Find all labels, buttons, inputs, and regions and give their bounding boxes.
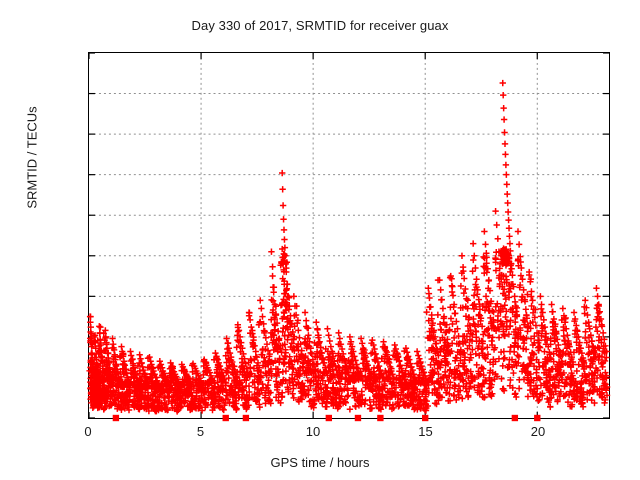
- data-point-marker: [109, 335, 115, 341]
- data-point-marker: [295, 327, 301, 333]
- x-tick-label: 20: [508, 424, 568, 439]
- data-point-marker: [459, 395, 465, 401]
- data-point-marker: [486, 277, 492, 283]
- data-point-marker: [324, 326, 330, 332]
- data-point-marker: [438, 326, 444, 332]
- data-point-marker: [511, 349, 517, 355]
- data-point-marker: [504, 191, 510, 197]
- scatter-series-srmtid: [89, 53, 609, 418]
- data-point-marker: [560, 305, 566, 311]
- data-point-marker: [248, 324, 254, 330]
- data-point-marker: [500, 92, 506, 98]
- data-point-marker: [505, 209, 511, 215]
- data-point-marker: [505, 200, 511, 206]
- data-point-marker: [501, 356, 507, 362]
- data-point-marker: [459, 253, 465, 259]
- data-point-marker: [313, 319, 319, 325]
- data-point-marker: [269, 273, 275, 279]
- data-point-marker: [336, 330, 342, 336]
- data-point-marker: [500, 105, 506, 111]
- data-point-marker: [257, 297, 263, 303]
- data-point-marker: [516, 241, 522, 247]
- data-point-marker: [426, 295, 432, 301]
- data-point-marker: [483, 293, 489, 299]
- data-point-marker: [314, 361, 320, 367]
- data-point-marker: [571, 309, 577, 315]
- data-point-marker: [512, 390, 518, 396]
- data-point-marker: [507, 377, 513, 383]
- data-point-marker: [458, 283, 464, 289]
- data-point-marker: [271, 289, 277, 295]
- data-point-marker: [97, 324, 103, 330]
- data-point-marker: [233, 344, 239, 350]
- data-point-marker: [471, 292, 477, 298]
- data-point-marker: [502, 151, 508, 157]
- plot-area: [88, 52, 610, 419]
- data-point-marker: [279, 170, 285, 176]
- zero-value-marker: [512, 415, 518, 421]
- data-point-marker: [503, 162, 509, 168]
- data-point-marker: [314, 327, 320, 333]
- data-point-marker: [325, 332, 331, 338]
- data-point-marker: [281, 227, 287, 233]
- data-point-marker: [536, 343, 542, 349]
- data-point-marker: [358, 335, 364, 341]
- data-point-marker: [516, 354, 522, 360]
- data-point-marker: [594, 328, 600, 334]
- data-point-marker: [302, 309, 308, 315]
- zero-value-marker: [223, 415, 229, 421]
- data-point-marker: [440, 305, 446, 311]
- data-point-marker: [397, 362, 403, 368]
- data-point-marker: [503, 171, 509, 177]
- data-point-marker: [493, 256, 499, 262]
- data-point-marker: [507, 344, 513, 350]
- data-point-marker: [507, 240, 513, 246]
- data-point-marker: [462, 286, 468, 292]
- x-tick-label: 15: [396, 424, 456, 439]
- data-point-marker: [437, 287, 443, 293]
- zero-value-marker: [326, 415, 332, 421]
- data-point-marker: [369, 337, 375, 343]
- data-point-marker: [507, 323, 513, 329]
- x-tick-label: 0: [58, 424, 118, 439]
- data-point-marker: [268, 249, 274, 255]
- data-point-marker: [450, 292, 456, 298]
- y-axis-label: SRMTID / TECUs: [25, 78, 40, 238]
- zero-value-marker: [243, 415, 249, 421]
- data-point-marker: [129, 356, 135, 362]
- data-point-marker: [247, 317, 253, 323]
- data-point-marker: [511, 293, 517, 299]
- data-point-marker: [501, 129, 507, 135]
- data-point-marker: [494, 222, 500, 228]
- data-point-marker: [501, 116, 507, 122]
- data-point-marker: [443, 389, 449, 395]
- data-point-marker: [495, 236, 501, 242]
- data-point-marker: [284, 281, 290, 287]
- data-point-marker: [87, 313, 93, 319]
- zero-value-marker: [113, 415, 119, 421]
- chart-canvas: Day 330 of 2017, SRMTID for receiver gua…: [0, 0, 640, 480]
- data-point-marker: [258, 305, 264, 311]
- data-point-marker: [600, 330, 606, 336]
- data-point-marker: [392, 342, 398, 348]
- data-point-marker: [279, 186, 285, 192]
- data-point-marker: [449, 283, 455, 289]
- data-point-marker: [582, 297, 588, 303]
- data-point-marker: [286, 354, 292, 360]
- data-point-marker: [408, 364, 414, 370]
- data-point-marker: [550, 309, 556, 315]
- data-point-marker: [516, 385, 522, 391]
- data-point-marker: [425, 285, 431, 291]
- data-point-marker: [529, 297, 535, 303]
- data-point-marker: [280, 202, 286, 208]
- data-point-marker: [500, 80, 506, 86]
- data-point-marker: [502, 314, 508, 320]
- data-point-marker: [296, 335, 302, 341]
- data-point-marker: [212, 350, 218, 356]
- data-point-marker: [438, 297, 444, 303]
- data-point-marker: [88, 324, 94, 330]
- data-point-marker: [452, 310, 458, 316]
- data-point-marker: [347, 334, 353, 340]
- data-point-marker: [225, 340, 231, 346]
- data-point-marker: [280, 216, 286, 222]
- data-point-marker: [523, 306, 529, 312]
- zero-value-marker: [534, 415, 540, 421]
- data-point-marker: [593, 324, 599, 330]
- data-point-marker: [327, 338, 333, 344]
- data-point-marker: [308, 350, 314, 356]
- data-point-marker: [505, 217, 511, 223]
- data-point-marker: [128, 352, 134, 358]
- data-point-marker: [470, 257, 476, 263]
- x-tick-label: 10: [283, 424, 343, 439]
- data-point-marker: [482, 241, 488, 247]
- data-point-marker: [323, 404, 329, 410]
- data-point-marker: [470, 240, 476, 246]
- data-point-marker: [137, 356, 143, 362]
- data-point-marker: [449, 289, 455, 295]
- data-point-marker: [223, 335, 229, 341]
- data-point-marker: [502, 141, 508, 147]
- x-tick-label: 5: [171, 424, 231, 439]
- data-point-marker: [538, 306, 544, 312]
- data-point-marker: [594, 293, 600, 299]
- data-point-marker: [337, 335, 343, 341]
- data-point-marker: [593, 285, 599, 291]
- data-point-marker: [281, 236, 287, 242]
- data-point-marker: [548, 301, 554, 307]
- data-point-marker: [535, 398, 541, 404]
- data-point-marker: [506, 225, 512, 231]
- data-point-marker: [427, 304, 433, 310]
- data-point-marker: [414, 348, 420, 354]
- zero-value-marker: [422, 415, 428, 421]
- data-point-marker: [415, 352, 421, 358]
- data-point-marker: [291, 293, 297, 299]
- data-point-marker: [461, 290, 467, 296]
- data-point-marker: [359, 340, 365, 346]
- x-axis-label: GPS time / hours: [0, 455, 640, 470]
- data-point-marker: [460, 364, 466, 370]
- data-point-marker: [303, 317, 309, 323]
- data-point-marker: [471, 253, 477, 259]
- data-point-marker: [492, 208, 498, 214]
- data-point-marker: [537, 293, 543, 299]
- data-point-marker: [506, 233, 512, 239]
- zero-value-marker: [377, 415, 383, 421]
- data-point-marker: [136, 352, 142, 358]
- data-point-marker: [510, 370, 516, 376]
- data-point-marker: [435, 312, 441, 318]
- data-point-marker: [347, 406, 353, 412]
- data-point-marker: [504, 181, 510, 187]
- data-point-marker: [508, 266, 514, 272]
- data-point-marker: [305, 332, 311, 338]
- data-point-marker: [481, 228, 487, 234]
- data-point-marker: [514, 352, 520, 358]
- data-point-marker: [269, 264, 275, 270]
- data-point-marker: [473, 276, 479, 282]
- chart-title: Day 330 of 2017, SRMTID for receiver gua…: [0, 18, 640, 33]
- zero-value-marker: [355, 415, 361, 421]
- data-point-marker: [283, 368, 289, 374]
- data-point-marker: [515, 228, 521, 234]
